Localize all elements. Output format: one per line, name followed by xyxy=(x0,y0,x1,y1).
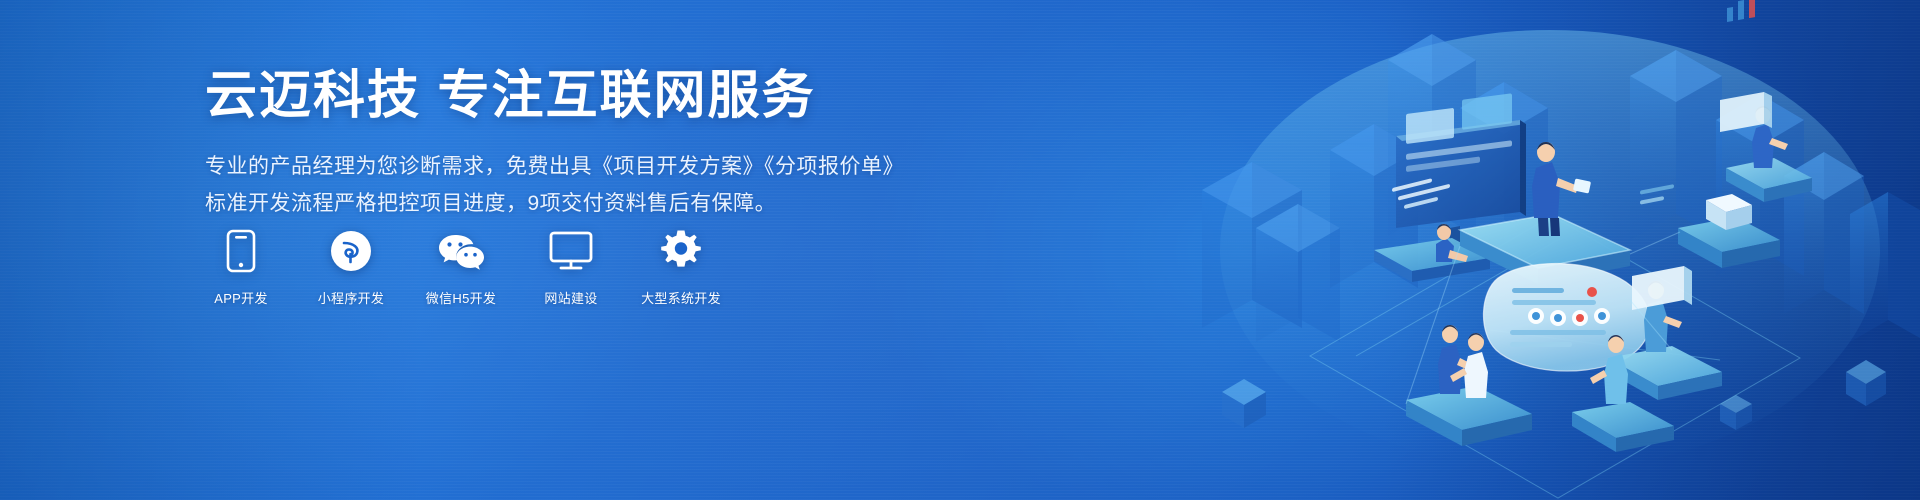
page-title: 云迈科技 专注互联网服务 xyxy=(205,66,965,127)
banner-subtitle: 专业的产品经理为您诊断需求，免费出具《项目开发方案》《分项报价单》 标准开发流程… xyxy=(205,149,965,223)
hero-banner: 云迈科技 专注互联网服务 专业的产品经理为您诊断需求，免费出具《项目开发方案》《… xyxy=(0,0,1920,500)
wechat-icon xyxy=(438,228,484,274)
service-label: 小程序开发 xyxy=(318,288,385,307)
service-label: 大型系统开发 xyxy=(641,288,721,307)
subtitle-line-1: 专业的产品经理为您诊断需求，免费出具《项目开发方案》《分项报价单》 xyxy=(205,149,965,186)
banner-content: 云迈科技 专注互联网服务 专业的产品经理为您诊断需求，免费出具《项目开发方案》《… xyxy=(205,66,965,223)
subtitle-line-2: 标准开发流程严格把控项目进度，9项交付资料售后有保障。 xyxy=(205,186,965,223)
service-item-wechat-h5[interactable]: 微信H5开发 xyxy=(425,228,497,307)
service-label: 微信H5开发 xyxy=(426,288,496,307)
service-item-large-system[interactable]: 大型系统开发 xyxy=(645,228,717,307)
service-label: 网站建设 xyxy=(544,288,597,307)
hero-illustration xyxy=(1160,0,1920,500)
service-list: APP开发 小程序开发 xyxy=(205,228,717,307)
gear-icon xyxy=(660,228,702,274)
mini-program-icon xyxy=(330,228,372,274)
monitor-icon xyxy=(549,228,593,274)
mobile-phone-icon xyxy=(226,228,256,274)
service-item-miniprogram[interactable]: 小程序开发 xyxy=(315,228,387,307)
service-item-website[interactable]: 网站建设 xyxy=(535,228,607,307)
service-label: APP开发 xyxy=(214,288,268,307)
service-item-app[interactable]: APP开发 xyxy=(205,228,277,307)
